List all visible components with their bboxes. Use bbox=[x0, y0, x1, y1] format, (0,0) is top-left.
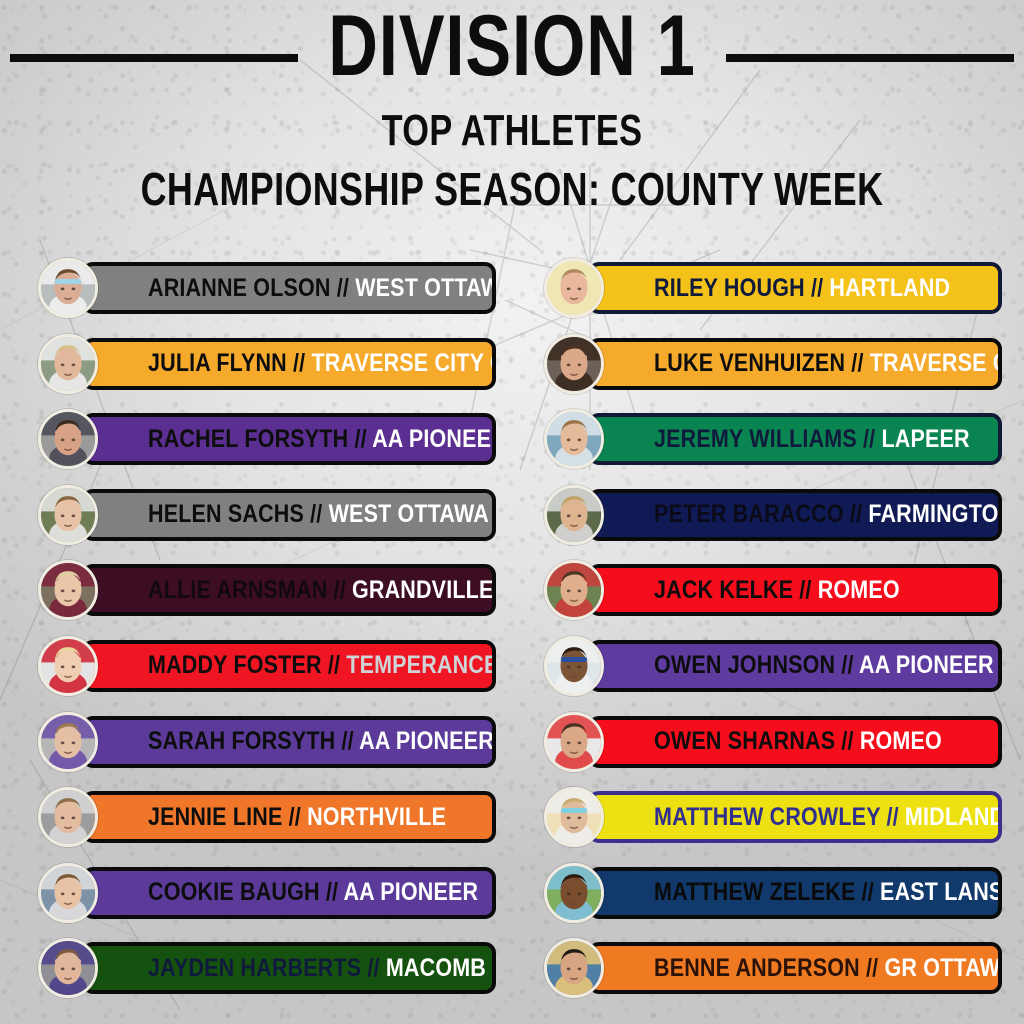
athlete-bar[interactable]: COOKIE BAUGH // AA PIONEER bbox=[82, 867, 496, 919]
athlete-bar[interactable]: PETER BARACCO // FARMINGTON bbox=[588, 489, 1002, 541]
poster-header: DIVISION 1 TOP ATHLETES CHAMPIONSHIP SEA… bbox=[0, 0, 1024, 225]
athlete-bar[interactable]: MATTHEW ZELEKE // EAST LANSING bbox=[588, 867, 1002, 919]
portrait-icon bbox=[41, 866, 95, 920]
athlete-bar-text: RILEY HOUGH // HARTLAND bbox=[654, 274, 950, 303]
portrait-icon bbox=[41, 563, 95, 617]
athlete-name: BENNE ANDERSON bbox=[654, 954, 860, 982]
athlete-bar[interactable]: JULIA FLYNN // TRAVERSE CITY CENTRAL bbox=[82, 338, 496, 390]
athlete-row[interactable]: MADDY FOSTER // TEMPERANCE BEDFORD bbox=[34, 636, 496, 696]
athlete-name: JENNIE LINE bbox=[148, 803, 283, 831]
name-school-separator: // bbox=[855, 878, 880, 906]
athlete-avatar bbox=[544, 863, 604, 923]
athlete-school: NORTHVILLE bbox=[307, 803, 446, 831]
athlete-bar[interactable]: LUKE VENHUIZEN // TRAVERSE CITY CENTRAL bbox=[588, 338, 1002, 390]
athlete-school: WEST OTTAWA bbox=[355, 274, 496, 302]
athlete-school: WEST OTTAWA bbox=[329, 500, 489, 528]
athlete-name: OWEN SHARNAS bbox=[654, 727, 835, 755]
athlete-bar[interactable]: RACHEL FORSYTH // AA PIONEER bbox=[82, 413, 496, 465]
athlete-name: JEREMY WILLIAMS bbox=[654, 425, 857, 453]
athlete-name: MATTHEW CROWLEY bbox=[654, 803, 880, 831]
name-school-separator: // bbox=[845, 349, 870, 377]
page-title: DIVISION 1 bbox=[102, 0, 921, 94]
athlete-bar-text: JACK KELKE // ROMEO bbox=[654, 576, 900, 605]
portrait-icon bbox=[547, 941, 601, 995]
athlete-bar-text: MATTHEW ZELEKE // EAST LANSING bbox=[654, 878, 1002, 907]
athlete-school: ROMEO bbox=[818, 576, 900, 604]
portrait-icon bbox=[547, 563, 601, 617]
name-school-separator: // bbox=[283, 803, 308, 831]
poster-canvas: DIVISION 1 TOP ATHLETES CHAMPIONSHIP SEA… bbox=[0, 0, 1024, 1024]
portrait-icon bbox=[41, 261, 95, 315]
athlete-name: JACK KELKE bbox=[654, 576, 793, 604]
athlete-avatar bbox=[38, 409, 98, 469]
name-school-separator: // bbox=[880, 803, 905, 831]
subtitle-top-athletes: TOP ATHLETES bbox=[113, 108, 912, 154]
athlete-columns: ARIANNE OLSON // WEST OTTAWA JULIA FLYNN… bbox=[0, 258, 1024, 1014]
athlete-bar[interactable]: ALLIE ARNSMAN // GRANDVILLE bbox=[82, 564, 496, 616]
portrait-icon bbox=[41, 337, 95, 391]
athlete-avatar bbox=[38, 863, 98, 923]
athlete-school: MIDLAND bbox=[905, 803, 1002, 831]
athlete-bar-text: LUKE VENHUIZEN // TRAVERSE CITY CENTRAL bbox=[654, 349, 1002, 378]
athlete-row[interactable]: JENNIE LINE // NORTHVILLE bbox=[34, 787, 496, 847]
name-school-separator: // bbox=[844, 500, 869, 528]
name-school-separator: // bbox=[322, 651, 347, 679]
name-school-separator: // bbox=[857, 425, 882, 453]
name-school-separator: // bbox=[361, 954, 386, 982]
athlete-row[interactable]: PETER BARACCO // FARMINGTON bbox=[540, 485, 1002, 545]
portrait-icon bbox=[41, 639, 95, 693]
athlete-bar-text: OWEN SHARNAS // ROMEO bbox=[654, 727, 942, 756]
athlete-bar[interactable]: JACK KELKE // ROMEO bbox=[588, 564, 1002, 616]
athlete-bar-text: ALLIE ARNSMAN // GRANDVILLE bbox=[148, 576, 493, 605]
athlete-school: EAST LANSING bbox=[880, 878, 1002, 906]
athlete-row[interactable]: SARAH FORSYTH // AA PIONEER bbox=[34, 712, 496, 772]
athlete-bar[interactable]: JAYDEN HARBERTS // MACOMB DAKOTA bbox=[82, 942, 496, 994]
athlete-name: PETER BARACCO bbox=[654, 500, 844, 528]
athlete-bar[interactable]: JENNIE LINE // NORTHVILLE bbox=[82, 791, 496, 843]
athlete-bar-text: COOKIE BAUGH // AA PIONEER bbox=[148, 878, 478, 907]
athlete-bar-text: SARAH FORSYTH // AA PIONEER bbox=[148, 727, 494, 756]
athlete-avatar bbox=[544, 560, 604, 620]
athlete-name: ARIANNE OLSON bbox=[148, 274, 331, 302]
portrait-icon bbox=[41, 790, 95, 844]
athlete-school: HARTLAND bbox=[829, 274, 950, 302]
athlete-bar[interactable]: RILEY HOUGH // HARTLAND bbox=[588, 262, 1002, 314]
athlete-row[interactable]: RACHEL FORSYTH // AA PIONEER bbox=[34, 409, 496, 469]
portrait-icon bbox=[547, 261, 601, 315]
athlete-row[interactable]: ARIANNE OLSON // WEST OTTAWA bbox=[34, 258, 496, 318]
athlete-school: FARMINGTON bbox=[868, 500, 1002, 528]
athlete-bar-text: ARIANNE OLSON // WEST OTTAWA bbox=[148, 274, 496, 303]
name-school-separator: // bbox=[860, 954, 885, 982]
athlete-avatar bbox=[38, 636, 98, 696]
athlete-school: TRAVERSE CITY CENTRAL bbox=[870, 349, 1002, 377]
athlete-name: JULIA FLYNN bbox=[148, 349, 287, 377]
portrait-icon bbox=[547, 715, 601, 769]
athlete-bar-text: PETER BARACCO // FARMINGTON bbox=[654, 500, 1002, 529]
athlete-column-right: RILEY HOUGH // HARTLAND LUKE VENHUIZEN /… bbox=[540, 258, 1002, 1014]
portrait-icon bbox=[41, 488, 95, 542]
athlete-name: JAYDEN HARBERTS bbox=[148, 954, 361, 982]
athlete-bar-text: MADDY FOSTER // TEMPERANCE BEDFORD bbox=[148, 651, 496, 680]
athlete-name: ALLIE ARNSMAN bbox=[148, 576, 327, 604]
athlete-bar[interactable]: JEREMY WILLIAMS // LAPEER bbox=[588, 413, 1002, 465]
athlete-bar-text: BENNE ANDERSON // GR OTTAWA HILLS bbox=[654, 954, 1002, 983]
athlete-row[interactable]: COOKIE BAUGH // AA PIONEER bbox=[34, 863, 496, 923]
portrait-icon bbox=[41, 715, 95, 769]
athlete-avatar bbox=[38, 938, 98, 998]
athlete-avatar bbox=[38, 258, 98, 318]
portrait-icon bbox=[547, 412, 601, 466]
athlete-name: RACHEL FORSYTH bbox=[148, 425, 348, 453]
athlete-name: HELEN SACHS bbox=[148, 500, 304, 528]
athlete-school: TEMPERANCE BEDFORD bbox=[346, 651, 496, 679]
athlete-bar[interactable]: MADDY FOSTER // TEMPERANCE BEDFORD bbox=[82, 640, 496, 692]
name-school-separator: // bbox=[327, 576, 352, 604]
athlete-name: RILEY HOUGH bbox=[654, 274, 805, 302]
athlete-name: COOKIE BAUGH bbox=[148, 878, 320, 906]
athlete-name: OWEN JOHNSON bbox=[654, 651, 835, 679]
athlete-school: LAPEER bbox=[881, 425, 969, 453]
athlete-column-left: ARIANNE OLSON // WEST OTTAWA JULIA FLYNN… bbox=[34, 258, 496, 1014]
athlete-bar[interactable]: SARAH FORSYTH // AA PIONEER bbox=[82, 716, 496, 768]
athlete-avatar bbox=[544, 938, 604, 998]
name-school-separator: // bbox=[331, 274, 356, 302]
portrait-icon bbox=[41, 941, 95, 995]
subtitle-championship-season: CHAMPIONSHIP SEASON: COUNTY WEEK bbox=[113, 164, 912, 214]
athlete-bar-text: MATTHEW CROWLEY // MIDLAND bbox=[654, 803, 1002, 832]
portrait-icon bbox=[547, 866, 601, 920]
athlete-school: AA PIONEER bbox=[359, 727, 494, 755]
athlete-school: MACOMB DAKOTA bbox=[386, 954, 496, 982]
athlete-bar-text: JAYDEN HARBERTS // MACOMB DAKOTA bbox=[148, 954, 496, 983]
athlete-avatar bbox=[38, 334, 98, 394]
athlete-row[interactable]: BENNE ANDERSON // GR OTTAWA HILLS bbox=[540, 938, 1002, 998]
portrait-icon bbox=[547, 337, 601, 391]
athlete-avatar bbox=[544, 409, 604, 469]
athlete-name: LUKE VENHUIZEN bbox=[654, 349, 845, 377]
athlete-row[interactable]: JACK KELKE // ROMEO bbox=[540, 560, 1002, 620]
athlete-bar-text: JENNIE LINE // NORTHVILLE bbox=[148, 803, 446, 832]
portrait-icon bbox=[547, 790, 601, 844]
athlete-avatar bbox=[38, 787, 98, 847]
name-school-separator: // bbox=[805, 274, 830, 302]
athlete-school: TRAVERSE CITY CENTRAL bbox=[311, 349, 496, 377]
athlete-bar-text: HELEN SACHS // WEST OTTAWA bbox=[148, 500, 489, 529]
athlete-avatar bbox=[544, 485, 604, 545]
athlete-bar[interactable]: MATTHEW CROWLEY // MIDLAND bbox=[588, 791, 1002, 843]
athlete-row[interactable]: JAYDEN HARBERTS // MACOMB DAKOTA bbox=[34, 938, 496, 998]
athlete-school: GRANDVILLE bbox=[352, 576, 493, 604]
athlete-row[interactable]: OWEN JOHNSON // AA PIONEER bbox=[540, 636, 1002, 696]
portrait-icon bbox=[547, 488, 601, 542]
athlete-school: ROMEO bbox=[860, 727, 942, 755]
athlete-row[interactable]: RILEY HOUGH // HARTLAND bbox=[540, 258, 1002, 318]
athlete-bar[interactable]: HELEN SACHS // WEST OTTAWA bbox=[82, 489, 496, 541]
athlete-school: AA PIONEER bbox=[343, 878, 478, 906]
athlete-row[interactable]: MATTHEW ZELEKE // EAST LANSING bbox=[540, 863, 1002, 923]
athlete-bar-text: OWEN JOHNSON // AA PIONEER bbox=[654, 651, 994, 680]
athlete-school: AA PIONEER bbox=[859, 651, 994, 679]
name-school-separator: // bbox=[304, 500, 329, 528]
athlete-bar-text: JULIA FLYNN // TRAVERSE CITY CENTRAL bbox=[148, 349, 496, 378]
athlete-bar[interactable]: OWEN JOHNSON // AA PIONEER bbox=[588, 640, 1002, 692]
name-school-separator: // bbox=[320, 878, 344, 906]
athlete-avatar bbox=[544, 787, 604, 847]
athlete-row[interactable]: LUKE VENHUIZEN // TRAVERSE CITY CENTRAL bbox=[540, 334, 1002, 394]
athlete-avatar bbox=[544, 334, 604, 394]
name-school-separator: // bbox=[835, 727, 860, 755]
athlete-row[interactable]: ALLIE ARNSMAN // GRANDVILLE bbox=[34, 560, 496, 620]
athlete-row[interactable]: HELEN SACHS // WEST OTTAWA bbox=[34, 485, 496, 545]
athlete-bar-text: RACHEL FORSYTH // AA PIONEER bbox=[148, 425, 496, 454]
athlete-bar[interactable]: OWEN SHARNAS // ROMEO bbox=[588, 716, 1002, 768]
athlete-row[interactable]: MATTHEW CROWLEY // MIDLAND bbox=[540, 787, 1002, 847]
athlete-row[interactable]: JEREMY WILLIAMS // LAPEER bbox=[540, 409, 1002, 469]
athlete-name: MADDY FOSTER bbox=[148, 651, 322, 679]
athlete-bar[interactable]: ARIANNE OLSON // WEST OTTAWA bbox=[82, 262, 496, 314]
athlete-bar[interactable]: BENNE ANDERSON // GR OTTAWA HILLS bbox=[588, 942, 1002, 994]
name-school-separator: // bbox=[835, 651, 859, 679]
athlete-avatar bbox=[544, 258, 604, 318]
athlete-avatar bbox=[544, 712, 604, 772]
athlete-avatar bbox=[38, 485, 98, 545]
athlete-bar-text: JEREMY WILLIAMS // LAPEER bbox=[654, 425, 970, 454]
athlete-row[interactable]: OWEN SHARNAS // ROMEO bbox=[540, 712, 1002, 772]
athlete-school: AA PIONEER bbox=[372, 425, 496, 453]
athlete-row[interactable]: JULIA FLYNN // TRAVERSE CITY CENTRAL bbox=[34, 334, 496, 394]
athlete-avatar bbox=[544, 636, 604, 696]
name-school-separator: // bbox=[335, 727, 359, 755]
athlete-name: MATTHEW ZELEKE bbox=[654, 878, 855, 906]
title-row: DIVISION 1 bbox=[0, 0, 1024, 92]
athlete-avatar bbox=[38, 712, 98, 772]
name-school-separator: // bbox=[348, 425, 372, 453]
portrait-icon bbox=[547, 639, 601, 693]
name-school-separator: // bbox=[287, 349, 312, 377]
athlete-name: SARAH FORSYTH bbox=[148, 727, 335, 755]
athlete-school: GR OTTAWA HILLS bbox=[884, 954, 1002, 982]
athlete-avatar bbox=[38, 560, 98, 620]
portrait-icon bbox=[41, 412, 95, 466]
name-school-separator: // bbox=[793, 576, 818, 604]
